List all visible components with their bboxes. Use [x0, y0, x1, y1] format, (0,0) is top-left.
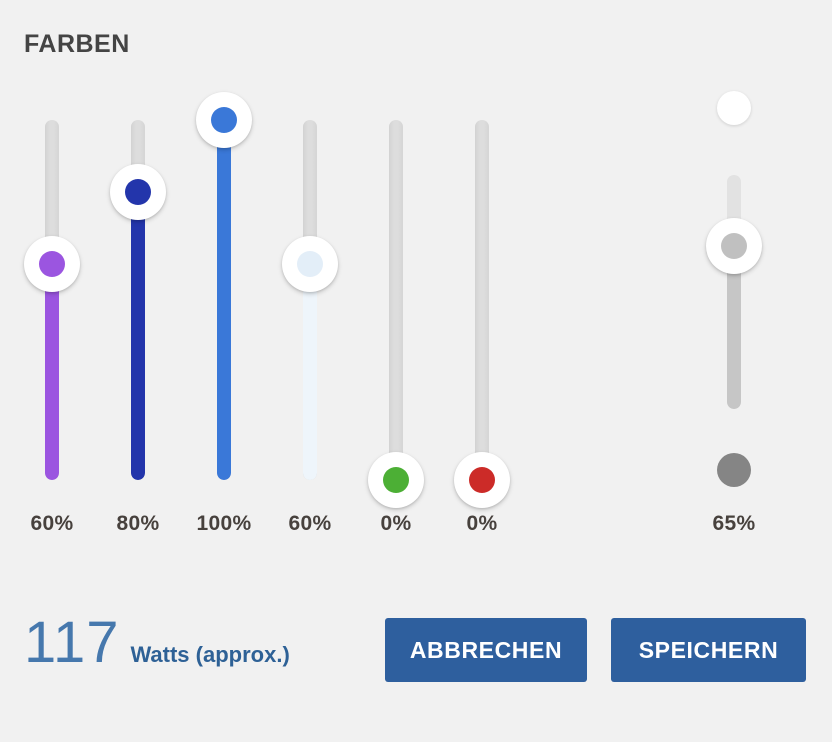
- master-slider-fill: [727, 257, 741, 409]
- slider-handle-dot-dark-blue: [125, 179, 151, 205]
- slider-handle-dot-red: [469, 467, 495, 493]
- slider-violet[interactable]: 60%: [4, 0, 100, 560]
- power-unit-label: Watts (approx.): [130, 644, 289, 666]
- slider-track-violet[interactable]: [45, 120, 59, 480]
- slider-track-royal-blue[interactable]: [217, 120, 231, 480]
- power-value: 117: [24, 614, 119, 672]
- master-slider-track[interactable]: [727, 175, 741, 409]
- slider-dark-blue[interactable]: 80%: [90, 0, 186, 560]
- slider-handle-dark-blue[interactable]: [110, 164, 166, 220]
- slider-handle-dot-cool-white: [297, 251, 323, 277]
- master-slider-handle[interactable]: [706, 218, 762, 274]
- cancel-button[interactable]: ABBRECHEN: [385, 618, 587, 682]
- slider-track-green[interactable]: [389, 120, 403, 480]
- all-off-button[interactable]: [717, 453, 751, 487]
- power-readout: 117 Watts (approx.): [24, 614, 290, 672]
- slider-track-red[interactable]: [475, 120, 489, 480]
- all-on-button[interactable]: [717, 91, 751, 125]
- slider-cool-white[interactable]: 60%: [262, 0, 358, 560]
- slider-fill-cool-white: [303, 264, 317, 480]
- slider-value-label-red: 0%: [434, 512, 530, 536]
- slider-royal-blue[interactable]: 100%: [176, 0, 272, 560]
- slider-handle-green[interactable]: [368, 452, 424, 508]
- slider-handle-dot-violet: [39, 251, 65, 277]
- slider-handle-dot-green: [383, 467, 409, 493]
- slider-red[interactable]: 0%: [434, 0, 530, 560]
- slider-value-label-green: 0%: [348, 512, 444, 536]
- slider-value-label-cool-white: 60%: [262, 512, 358, 536]
- slider-fill-royal-blue: [217, 120, 231, 480]
- save-button[interactable]: SPEICHERN: [611, 618, 806, 682]
- master-value-label: 65%: [686, 512, 782, 536]
- slider-handle-violet[interactable]: [24, 236, 80, 292]
- slider-value-label-royal-blue: 100%: [176, 512, 272, 536]
- slider-handle-red[interactable]: [454, 452, 510, 508]
- slider-fill-violet: [45, 264, 59, 480]
- slider-fill-dark-blue: [131, 192, 145, 480]
- slider-track-cool-white[interactable]: [303, 120, 317, 480]
- slider-value-label-dark-blue: 80%: [90, 512, 186, 536]
- slider-handle-dot-royal-blue: [211, 107, 237, 133]
- master-handle-dot: [721, 233, 747, 259]
- slider-handle-royal-blue[interactable]: [196, 92, 252, 148]
- slider-value-label-violet: 60%: [4, 512, 100, 536]
- slider-green[interactable]: 0%: [348, 0, 444, 560]
- master-brightness-column: 65%: [686, 0, 782, 560]
- slider-handle-cool-white[interactable]: [282, 236, 338, 292]
